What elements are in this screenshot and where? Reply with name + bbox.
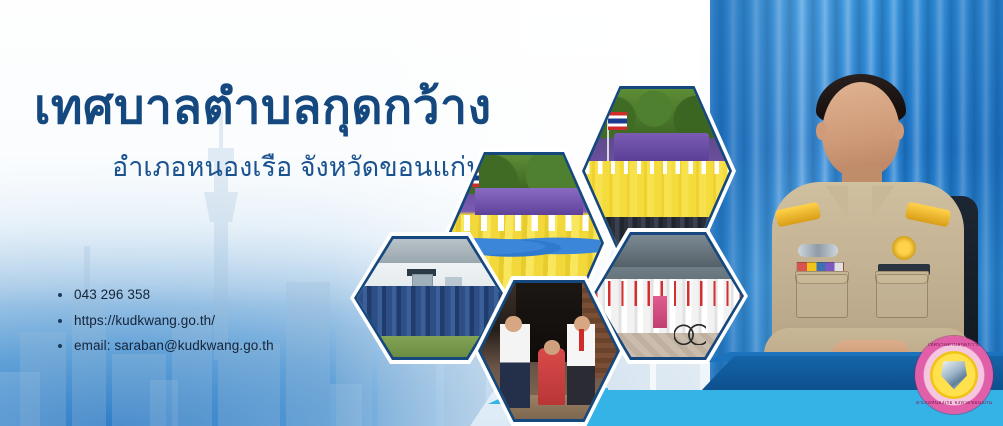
photo-wheelchair-visit xyxy=(481,283,617,419)
hex-photo-clip xyxy=(481,283,617,419)
elderly-woman-head xyxy=(544,340,560,355)
official-left-head xyxy=(505,316,521,332)
red-sashes xyxy=(595,281,741,305)
seal-bottom-text: อำเภอหนองเรือ จังหวัดขอนแก่น xyxy=(915,401,993,406)
white-caps xyxy=(585,161,729,174)
purple-stage-banner xyxy=(614,133,709,161)
bicycle xyxy=(674,311,706,345)
seal-core xyxy=(930,351,978,399)
shield-icon xyxy=(940,360,968,390)
municipality-banner: เทศบาลตำบลกุดกว้าง อำเภอหนองเรือ จังหวัด… xyxy=(0,0,1003,426)
municipality-seal[interactable]: เทศบาลตำบลกุดกว้าง อำเภอหนองเรือ จังหวัด… xyxy=(915,336,993,414)
seated-person xyxy=(653,296,666,328)
purple-stage xyxy=(475,188,583,216)
blue-shirt-group xyxy=(357,286,503,336)
thai-flag xyxy=(608,112,627,130)
official-left xyxy=(500,324,530,408)
hexagon-photo-collage xyxy=(0,0,1003,426)
elderly-woman xyxy=(538,348,565,405)
white-caps xyxy=(447,215,601,231)
seal-top-text: เทศบาลตำบลกุดกว้าง xyxy=(915,343,993,348)
red-tie xyxy=(579,329,584,351)
